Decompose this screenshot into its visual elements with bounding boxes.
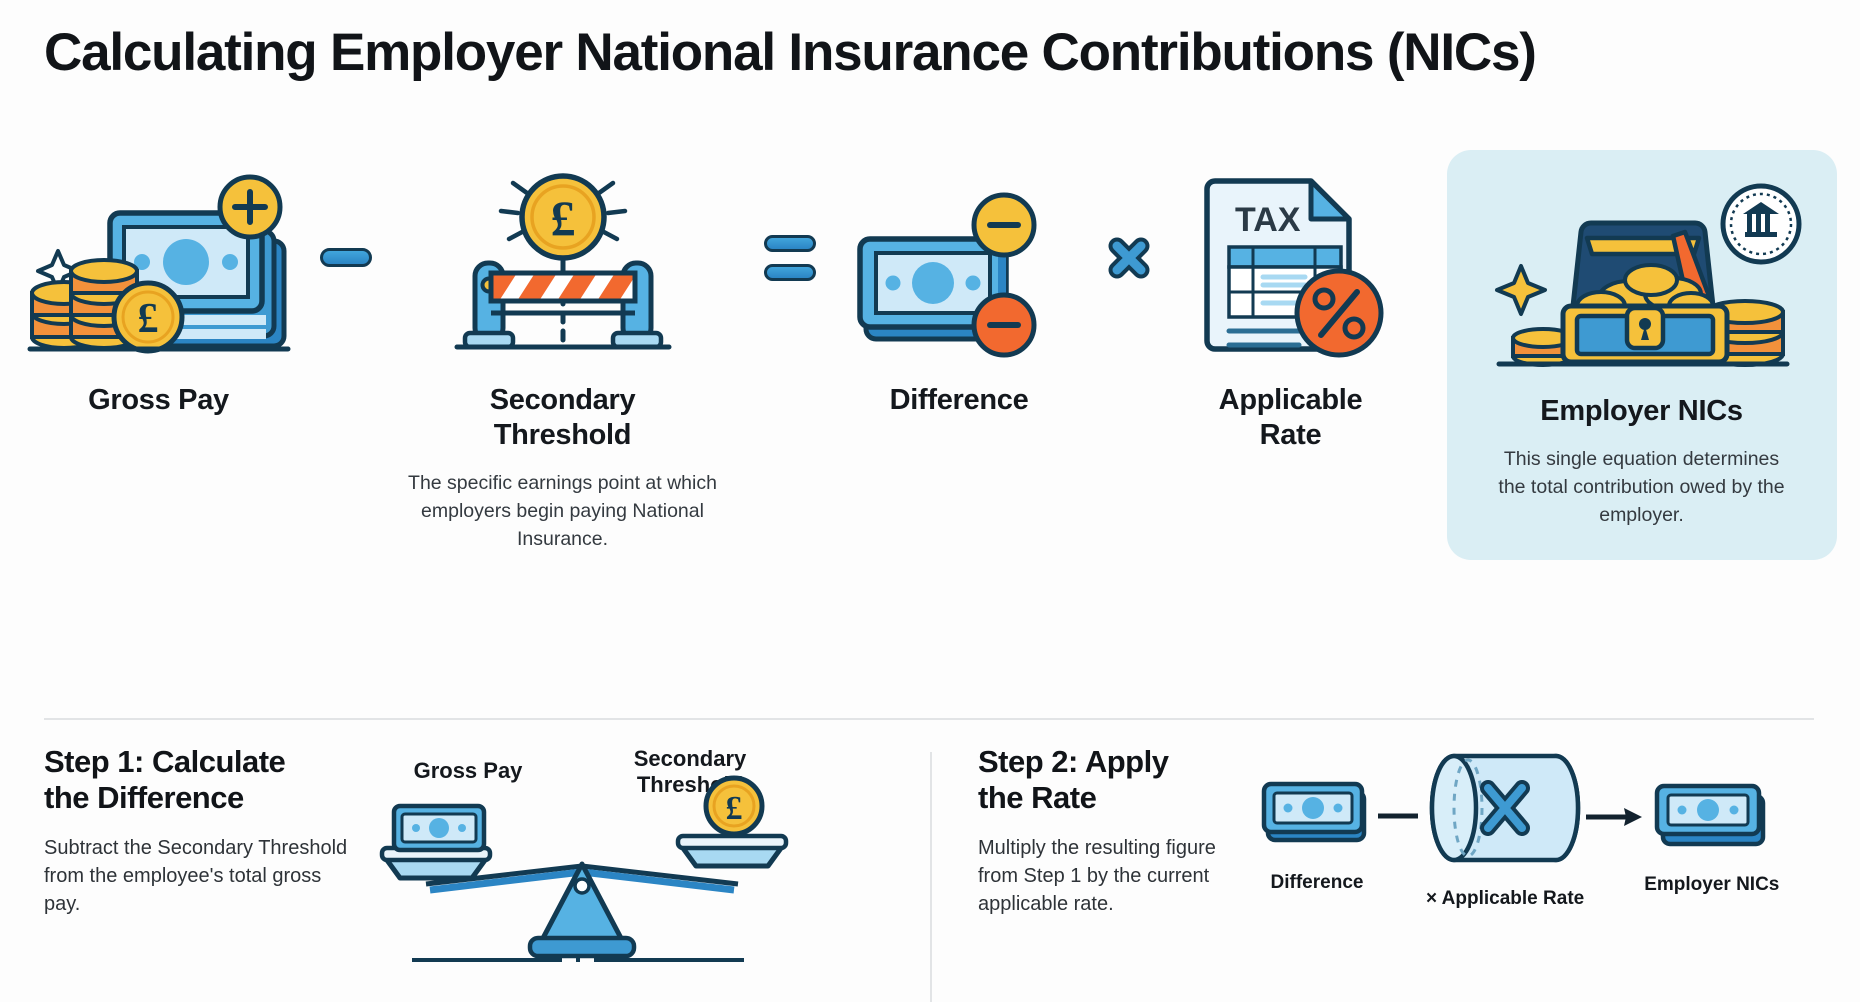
equation-term-employer-nics: Employer NICs This single equation deter… [1447,150,1837,560]
flow-label-difference: Difference [1271,872,1364,894]
equation-term-label: Secondary Threshold [490,383,636,453]
employer-nics-description: This single equation determines the tota… [1492,445,1792,530]
multiply-pipeline-illustration: Difference [1258,744,1779,919]
barrier-gate-pound-coin-icon: £ [443,150,683,365]
svg-text:TAX: TAX [1235,201,1301,239]
flow-arrow-icon [1584,806,1644,828]
equation-term-label: Applicable Rate [1219,383,1363,453]
step-1: Step 1: Calculate the Difference Subtrac… [44,744,792,994]
equation-term-label-line2: Rate [1219,418,1363,453]
equation-term-applicable-rate: TAX [1191,150,1391,453]
steps-section: Step 1: Calculate the Difference Subtrac… [0,744,1860,1002]
money-stack-plus-icon: £ [24,150,294,365]
scale-right-label-line1: Secondary [634,746,747,771]
step-1-text: Step 1: Calculate the Difference Subtrac… [44,744,354,994]
equals-operator [764,150,816,365]
flow-arrow-icon [1376,806,1426,826]
equation-term-label: Employer NICs [1540,394,1742,429]
banknote-stack-icon [1649,772,1775,852]
equation-term-label-line2: Threshold [490,418,636,453]
equation-row: £ Gross Pay [0,150,1860,670]
section-divider [44,718,1814,720]
svg-text:£: £ [137,296,158,342]
minus-operator [320,150,372,365]
cylinder-multiply-icon [1428,744,1582,872]
svg-text:£: £ [726,790,743,827]
banknote-icon [1258,772,1376,848]
equation-term-difference: Difference [852,150,1067,418]
banknote-minus-badges-icon [852,150,1067,365]
step-2: Step 2: Apply the Rate Multiply the resu… [978,744,1779,919]
scale-left-label: Gross Pay [414,758,524,783]
tax-document-percent-icon: TAX [1191,150,1391,365]
step-1-title: Step 1: Calculate the Difference [44,744,354,817]
equation-term-label: Difference [890,383,1029,418]
equation-term-label: Gross Pay [88,383,229,418]
svg-text:£: £ [550,190,575,246]
balance-scale-illustration: Gross Pay Secondary Threshold [372,744,792,994]
step-1-body: Subtract the Secondary Threshold from th… [44,834,354,919]
flow-label-employer-nics: Employer NICs [1644,874,1779,896]
equation-term-label-line1: Secondary [490,383,636,418]
treasure-chest-coins-icon [1477,176,1807,376]
equation-term-label-line1: Applicable [1219,383,1363,418]
step-2-title: Step 2: Apply the Rate [978,744,1228,817]
page-title: Calculating Employer National Insurance … [44,22,1824,83]
step-2-body: Multiply the resulting figure from Step … [978,834,1228,919]
equation-term-secondary-threshold: £ [398,150,728,553]
flow-label-applicable-rate: × Applicable Rate [1426,888,1584,910]
multiply-operator [1101,150,1157,365]
secondary-threshold-description: The specific earnings point at which emp… [398,469,728,554]
equation-term-gross-pay: £ Gross Pay [24,150,294,418]
step-2-text: Step 2: Apply the Rate Multiply the resu… [978,744,1228,919]
infographic-page: Calculating Employer National Insurance … [0,0,1860,1002]
